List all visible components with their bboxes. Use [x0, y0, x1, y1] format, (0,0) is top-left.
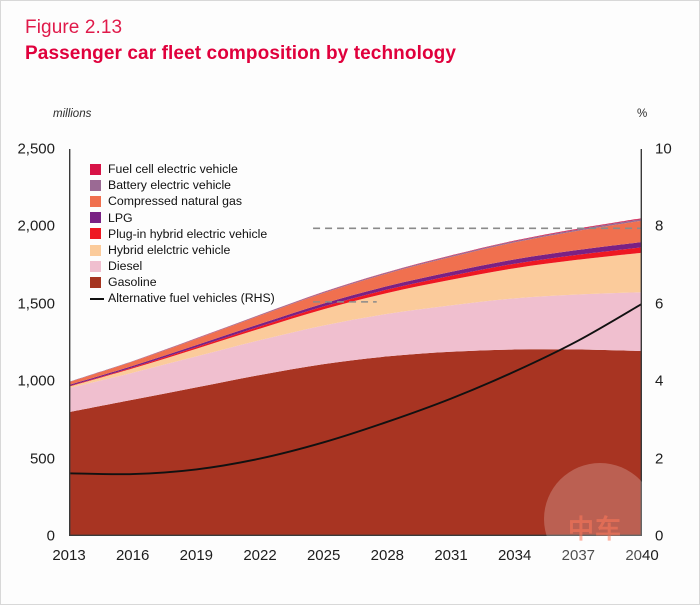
- legend-item[interactable]: Diesel: [90, 258, 275, 274]
- legend-color-swatch: [90, 212, 101, 223]
- legend-item[interactable]: LPG: [90, 210, 275, 226]
- legend-item-label: Compressed natural gas: [108, 195, 242, 207]
- x-axis-tick-label: 2016: [116, 547, 149, 564]
- right-axis-tick-label: 8: [655, 218, 663, 235]
- legend-color-swatch: [90, 196, 101, 207]
- legend-item-label: LPG: [108, 212, 133, 224]
- right-axis-tick-label: 10: [655, 141, 672, 158]
- left-axis-unit: millions: [53, 108, 91, 120]
- x-axis-tick-label: 2028: [371, 547, 404, 564]
- legend-color-swatch: [90, 180, 101, 191]
- legend-item[interactable]: Fuel cell electric vehicle: [90, 161, 275, 177]
- right-axis-tick-label: 0: [655, 528, 663, 545]
- right-axis-tick-label: 2: [655, 450, 663, 467]
- legend-item[interactable]: Gasoline: [90, 274, 275, 290]
- left-axis-tick-label: 0: [1, 528, 55, 545]
- x-axis-tick-label: 2034: [498, 547, 531, 564]
- legend-item[interactable]: Hybrid elelctric vehicle: [90, 242, 275, 258]
- legend-item-label: Plug-in hybrid electric vehicle: [108, 228, 267, 240]
- legend-color-swatch: [90, 277, 101, 288]
- legend-item[interactable]: Plug-in hybrid electric vehicle: [90, 226, 275, 242]
- right-axis-tick-label: 4: [655, 373, 663, 390]
- legend-item-label: Battery electric vehicle: [108, 179, 231, 191]
- x-axis-tick-label: 2019: [180, 547, 213, 564]
- left-axis-tick-label: 1,500: [1, 295, 55, 312]
- legend-item-label: Gasoline: [108, 276, 157, 288]
- legend-item-label: Hybrid elelctric vehicle: [108, 244, 230, 256]
- x-axis-tick-label: 2037: [562, 547, 595, 564]
- legend-color-swatch: [90, 261, 101, 272]
- page-title: Passenger car fleet composition by techn…: [25, 43, 456, 65]
- legend-item-label: Fuel cell electric vehicle: [108, 163, 238, 175]
- x-axis-tick-label: 2040: [625, 547, 658, 564]
- left-axis-tick-label: 2,500: [1, 141, 55, 158]
- legend-item[interactable]: Alternative fuel vehicles (RHS): [90, 291, 275, 307]
- legend-item-label: Diesel: [108, 260, 142, 272]
- chart-legend: Fuel cell electric vehicleBattery electr…: [90, 161, 275, 307]
- figure-number: Figure 2.13: [25, 17, 122, 39]
- legend-color-swatch: [90, 164, 101, 175]
- left-axis-tick-label: 500: [1, 450, 55, 467]
- x-axis-tick-label: 2013: [52, 547, 85, 564]
- left-axis-tick-label: 2,000: [1, 218, 55, 235]
- legend-color-swatch: [90, 245, 101, 256]
- x-axis-tick-label: 2031: [434, 547, 467, 564]
- legend-color-swatch: [90, 228, 101, 239]
- legend-item[interactable]: Compressed natural gas: [90, 193, 275, 209]
- legend-item[interactable]: Battery electric vehicle: [90, 177, 275, 193]
- x-axis-tick-label: 2022: [243, 547, 276, 564]
- right-axis-tick-label: 6: [655, 295, 663, 312]
- x-axis-tick-label: 2025: [307, 547, 340, 564]
- figure-page: Figure 2.13 Passenger car fleet composit…: [0, 0, 700, 605]
- right-axis-unit: %: [637, 108, 647, 120]
- legend-item-label: Alternative fuel vehicles (RHS): [108, 292, 275, 304]
- left-axis-tick-label: 1,000: [1, 373, 55, 390]
- legend-line-marker: [90, 298, 104, 300]
